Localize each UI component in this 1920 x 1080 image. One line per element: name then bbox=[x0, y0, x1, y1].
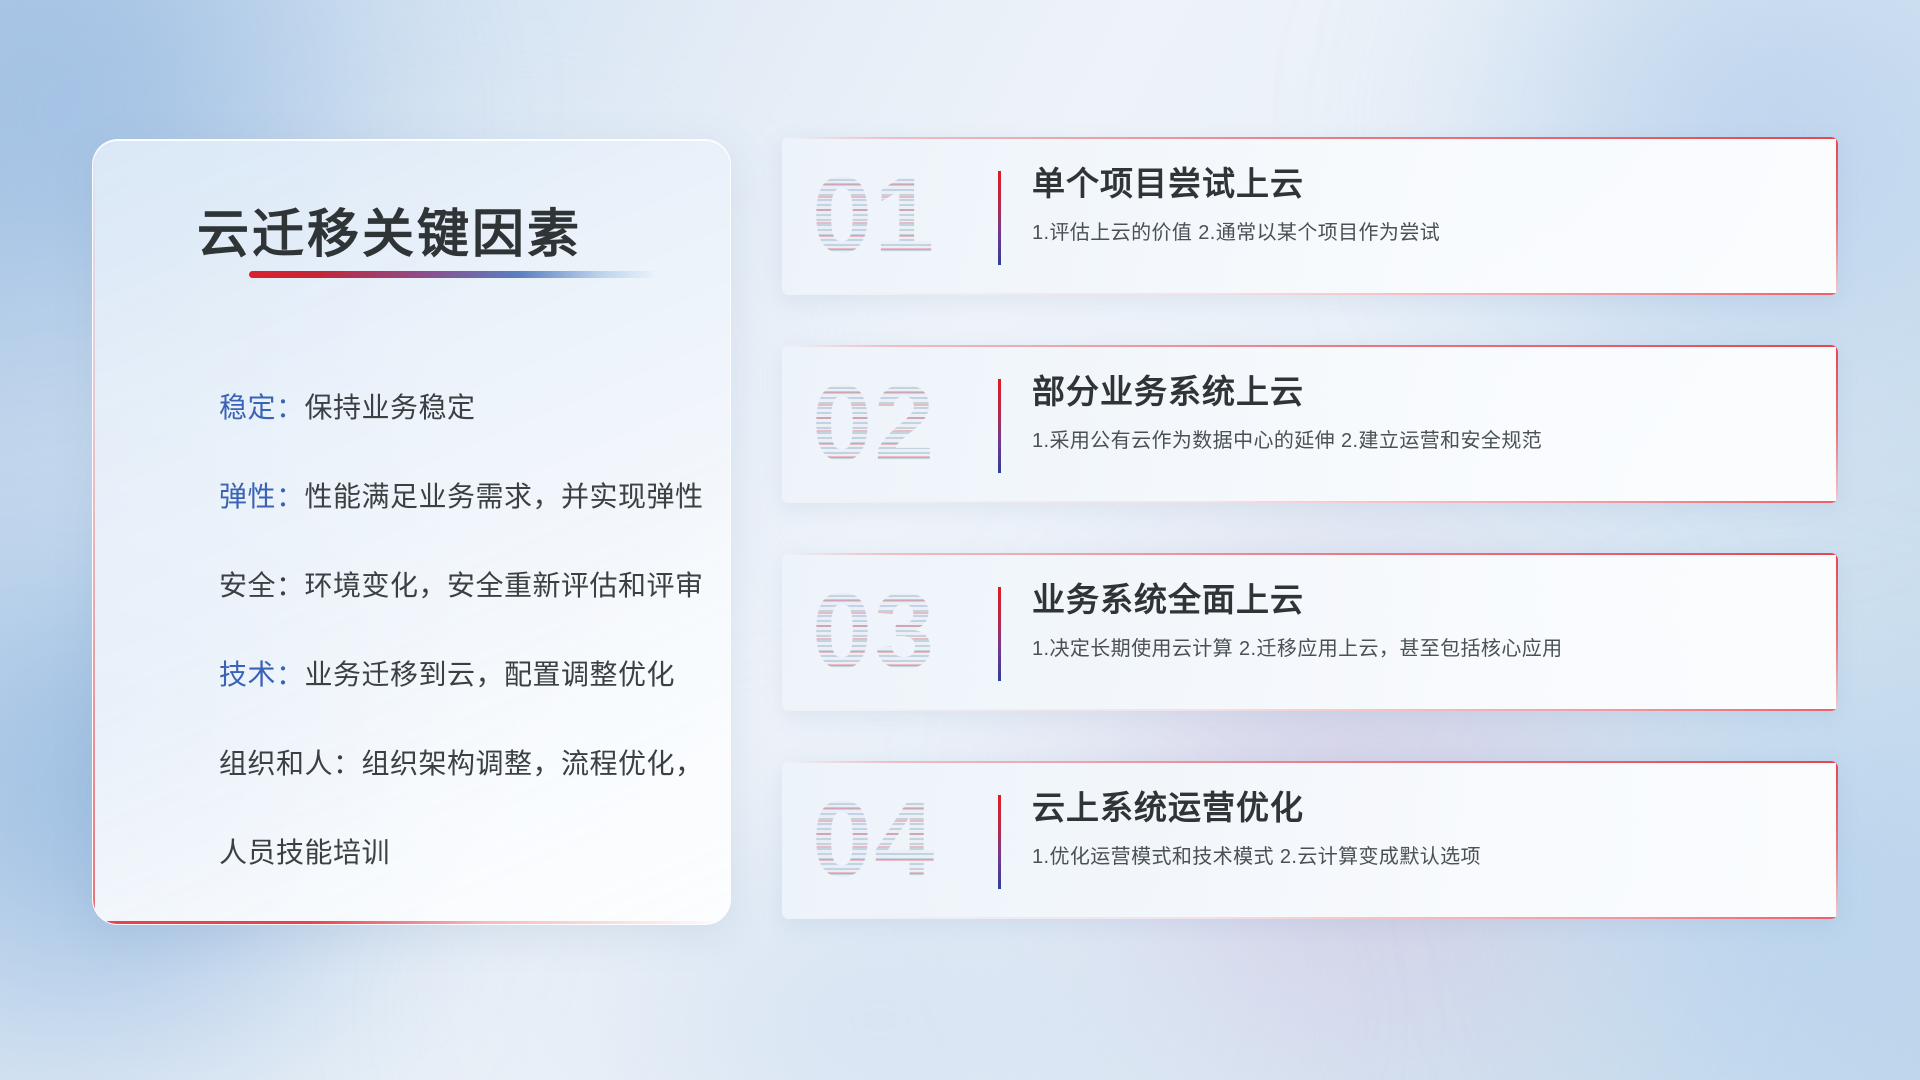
factor-row-continuation: 人员技能培训 bbox=[219, 839, 696, 867]
accent-divider bbox=[998, 587, 1001, 681]
stage-body: 部分业务系统上云 1.采用公有云作为数据中心的延伸 2.建立运营和安全规范 bbox=[1032, 371, 1804, 454]
factor-value: 业务迁移到云，配置调整优化 bbox=[305, 661, 676, 689]
stage-card[interactable]: 03 03 业务系统全面上云 1.决定长期使用云计算 2.迁移应用上云，甚至包括… bbox=[782, 553, 1838, 711]
factor-row: 技术： 业务迁移到云，配置调整优化 bbox=[219, 661, 696, 689]
card-bottom-rule bbox=[782, 917, 1838, 919]
stage-description: 1.决定长期使用云计算 2.迁移应用上云，甚至包括核心应用 bbox=[1032, 636, 1804, 662]
panel-title: 云迁移关键因素 bbox=[197, 192, 582, 267]
factor-list: 稳定： 保持业务稳定 弹性： 性能满足业务需求，并实现弹性 安全： 环境变化，安… bbox=[219, 394, 696, 867]
factor-key: 弹性： bbox=[219, 483, 305, 511]
factor-row: 稳定： 保持业务稳定 bbox=[219, 394, 696, 422]
stage-number-overlay: 02 bbox=[812, 367, 982, 479]
stage-description: 1.采用公有云作为数据中心的延伸 2.建立运营和安全规范 bbox=[1032, 428, 1804, 454]
factor-key: 技术： bbox=[219, 661, 305, 689]
card-bottom-rule bbox=[782, 293, 1838, 295]
stage-description: 1.优化运营模式和技术模式 2.云计算变成默认选项 bbox=[1032, 844, 1804, 870]
factor-value: 性能满足业务需求，并实现弹性 bbox=[305, 483, 704, 511]
stage-card[interactable]: 02 02 部分业务系统上云 1.采用公有云作为数据中心的延伸 2.建立运营和安… bbox=[782, 345, 1838, 503]
stage-body: 单个项目尝试上云 1.评估上云的价值 2.通常以某个项目作为尝试 bbox=[1032, 163, 1804, 246]
card-bottom-rule bbox=[782, 501, 1838, 503]
stage-number-overlay: 01 bbox=[812, 159, 982, 271]
stage-number-overlay: 03 bbox=[812, 575, 982, 687]
stage-description: 1.评估上云的价值 2.通常以某个项目作为尝试 bbox=[1032, 220, 1804, 246]
stage-title: 云上系统运营优化 bbox=[1032, 787, 1804, 828]
card-bottom-rule bbox=[782, 709, 1838, 711]
stage-number-overlay: 04 bbox=[812, 783, 982, 895]
factor-value: 人员技能培训 bbox=[219, 839, 390, 867]
stage-title: 部分业务系统上云 bbox=[1032, 371, 1804, 412]
stage-title: 业务系统全面上云 bbox=[1032, 579, 1804, 620]
stage-title: 单个项目尝试上云 bbox=[1032, 163, 1804, 204]
factor-row: 组织和人： 组织架构调整，流程优化， bbox=[219, 750, 696, 778]
factor-value: 环境变化，安全重新评估和评审 bbox=[305, 572, 704, 600]
accent-divider bbox=[998, 795, 1001, 889]
factor-key: 稳定： bbox=[219, 394, 305, 422]
title-underline-rule bbox=[249, 271, 657, 278]
factor-key: 安全： bbox=[219, 572, 305, 600]
factor-key: 组织和人： bbox=[219, 750, 362, 778]
factor-row: 安全： 环境变化，安全重新评估和评审 bbox=[219, 572, 696, 600]
factor-value: 保持业务稳定 bbox=[305, 394, 476, 422]
factor-value: 组织架构调整，流程优化， bbox=[362, 750, 704, 778]
stage-card[interactable]: 01 01 单个项目尝试上云 1.评估上云的价值 2.通常以某个项目作为尝试 bbox=[782, 137, 1838, 295]
accent-divider bbox=[998, 171, 1001, 265]
factor-row: 弹性： 性能满足业务需求，并实现弹性 bbox=[219, 483, 696, 511]
stage-card-list: 01 01 单个项目尝试上云 1.评估上云的价值 2.通常以某个项目作为尝试 0… bbox=[782, 137, 1838, 919]
stage-body: 业务系统全面上云 1.决定长期使用云计算 2.迁移应用上云，甚至包括核心应用 bbox=[1032, 579, 1804, 662]
accent-divider bbox=[998, 379, 1001, 473]
stage-body: 云上系统运营优化 1.优化运营模式和技术模式 2.云计算变成默认选项 bbox=[1032, 787, 1804, 870]
key-factors-panel: 云迁移关键因素 稳定： 保持业务稳定 弹性： 性能满足业务需求，并实现弹性 安全… bbox=[92, 139, 731, 925]
stage-card[interactable]: 04 04 云上系统运营优化 1.优化运营模式和技术模式 2.云计算变成默认选项 bbox=[782, 761, 1838, 919]
